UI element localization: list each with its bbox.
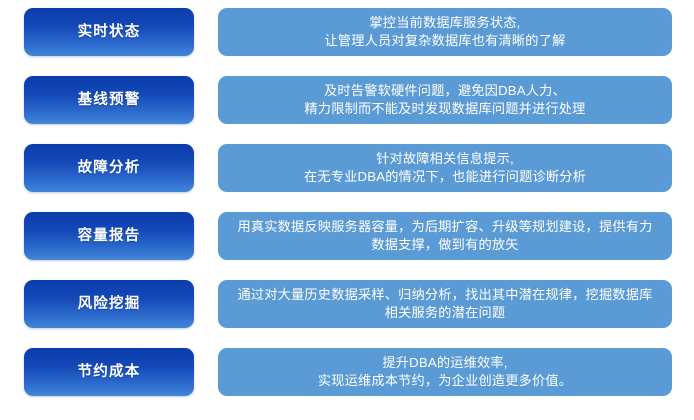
feature-row: 容量报告 用真实数据反映服务器容量，为后期扩容、升级等规划建设，提供有力数据支撑…: [24, 212, 672, 260]
feature-label-text: 容量报告: [78, 229, 141, 244]
feature-description-panel-3: 针对故障相关信息提示, 在无专业DBA的情况下，也能进行问题诊断分析: [218, 144, 672, 192]
feature-label-chip-2[interactable]: 基线预警: [24, 76, 194, 124]
feature-label-chip-1[interactable]: 实时状态: [24, 8, 194, 56]
feature-description-text: 针对故障相关信息提示, 在无专业DBA的情况下，也能进行问题诊断分析: [304, 150, 586, 186]
feature-label-chip-5[interactable]: 风险挖掘: [24, 280, 194, 328]
feature-row: 实时状态 掌控当前数据库服务状态, 让管理人员对复杂数据库也有清晰的了解: [24, 8, 672, 56]
feature-label-chip-6[interactable]: 节约成本: [24, 348, 194, 396]
feature-description-panel-5: 通过对大量历史数据采样、归纳分析，找出其中潜在规律，挖掘数据库相关服务的潜在问题: [218, 280, 672, 328]
feature-description-text: 掌控当前数据库服务状态, 让管理人员对复杂数据库也有清晰的了解: [325, 14, 566, 50]
feature-label-chip-4[interactable]: 容量报告: [24, 212, 194, 260]
feature-description-panel-6: 提升DBA的运维效率, 实现运维成本节约，为企业创造更多价值。: [218, 348, 672, 396]
feature-description-text: 及时告警软硬件问题，避免因DBA人力、 精力限制而不能及时发现数据库问题并进行处…: [304, 82, 585, 118]
feature-board: 实时状态 掌控当前数据库服务状态, 让管理人员对复杂数据库也有清晰的了解 基线预…: [0, 0, 694, 420]
feature-label-text: 故障分析: [78, 161, 141, 176]
row-spacer: [194, 8, 218, 56]
row-spacer: [194, 144, 218, 192]
feature-description-panel-1: 掌控当前数据库服务状态, 让管理人员对复杂数据库也有清晰的了解: [218, 8, 672, 56]
feature-label-text: 基线预警: [78, 93, 141, 108]
feature-description-panel-2: 及时告警软硬件问题，避免因DBA人力、 精力限制而不能及时发现数据库问题并进行处…: [218, 76, 672, 124]
feature-row: 基线预警 及时告警软硬件问题，避免因DBA人力、 精力限制而不能及时发现数据库问…: [24, 76, 672, 124]
row-spacer: [194, 348, 218, 396]
feature-description-text: 提升DBA的运维效率, 实现运维成本节约，为企业创造更多价值。: [318, 354, 572, 390]
feature-label-text: 实时状态: [78, 25, 141, 40]
feature-label-text: 风险挖掘: [78, 297, 141, 312]
feature-label-chip-3[interactable]: 故障分析: [24, 144, 194, 192]
row-spacer: [194, 76, 218, 124]
row-spacer: [194, 212, 218, 260]
feature-label-text: 节约成本: [78, 365, 141, 380]
feature-description-text: 用真实数据反映服务器容量，为后期扩容、升级等规划建设，提供有力数据支撑，做到有的…: [232, 218, 658, 254]
feature-description-text: 通过对大量历史数据采样、归纳分析，找出其中潜在规律，挖掘数据库相关服务的潜在问题: [232, 286, 658, 322]
feature-row: 故障分析 针对故障相关信息提示, 在无专业DBA的情况下，也能进行问题诊断分析: [24, 144, 672, 192]
feature-description-panel-4: 用真实数据反映服务器容量，为后期扩容、升级等规划建设，提供有力数据支撑，做到有的…: [218, 212, 672, 260]
feature-row: 风险挖掘 通过对大量历史数据采样、归纳分析，找出其中潜在规律，挖掘数据库相关服务…: [24, 280, 672, 328]
feature-row: 节约成本 提升DBA的运维效率, 实现运维成本节约，为企业创造更多价值。: [24, 348, 672, 396]
row-spacer: [194, 280, 218, 328]
